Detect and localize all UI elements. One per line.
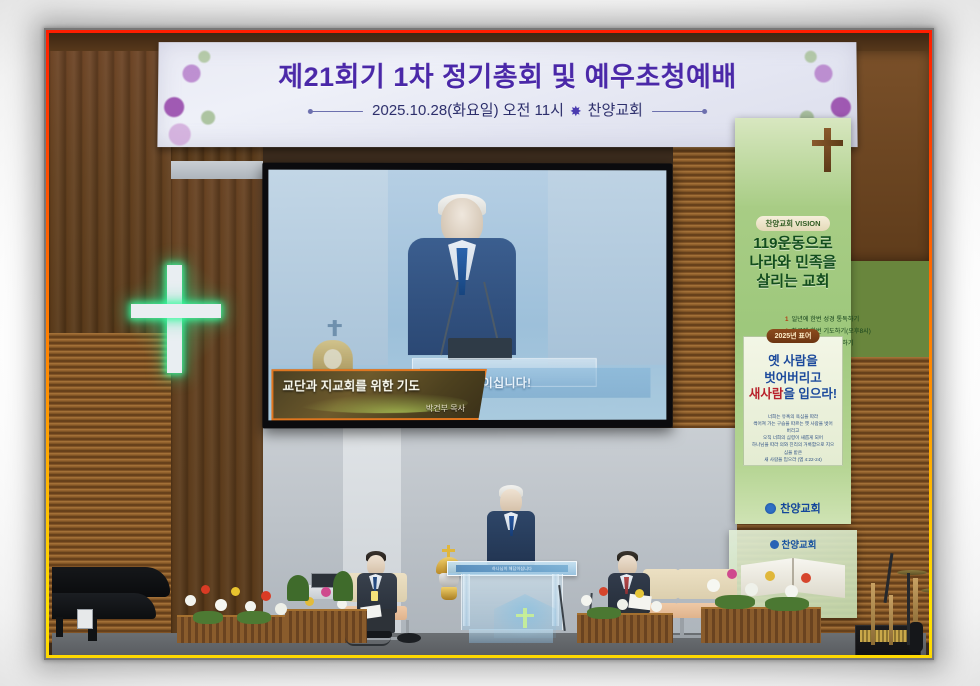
motto-box: 2025년 표어 옛 사람을 벗어버리고 새사람을 입으라! 너희는 유혹의 욕… [743, 336, 843, 466]
flower [745, 583, 758, 596]
vision-banner: 찬양교회 VISION 119운동으로 나라와 민족을 살리는 교회 1일년에 … [735, 118, 851, 524]
flower [727, 569, 737, 579]
banner-church: 찬양교회 [588, 102, 643, 119]
verse-line: 하나님을 따라 의와 진리의 거룩함으로 지으심을 받은 [751, 441, 835, 455]
flower [185, 595, 196, 606]
vision-item-number: 1 [785, 316, 788, 323]
vision-item: 1일년에 한번 성경 통독하기 [785, 314, 843, 323]
motto-text: 옛 사람을 벗어버리고 새사람을 입으라! [744, 353, 842, 403]
flower [261, 591, 271, 601]
vision-item-text: 일년에 한번 성경 통독하기 [791, 316, 859, 323]
flower-arrangement-right [697, 553, 821, 611]
vision-banner-header [735, 118, 851, 206]
flower [231, 587, 240, 596]
led-screen-bezel: 이 해답이십니다! 교단과 지교회를 위한 기도 박건부 목사 [262, 163, 672, 429]
church-sanctuary-photo: 제21회기 1차 정기총회 및 예우초청예배 2025.10.28(화요일) 오… [49, 33, 929, 655]
flower [707, 579, 720, 592]
led-screen-content: 이 해답이십니다! 교단과 지교회를 위한 기도 박건부 목사 [268, 170, 666, 421]
vision-headline-line3: 살리는 교회 [735, 272, 851, 291]
pulpit-sign: 하나님이 해답이십니다 [456, 565, 568, 572]
verse-line: 썩어져 가는 구습을 따르는 옛 사람을 벗어 버리고 [751, 420, 835, 434]
foliage [333, 571, 353, 601]
vision-headline: 119운동으로 나라와 민족을 살리는 교회 [735, 234, 851, 292]
motto-line2: 벗어버리고 [744, 370, 842, 387]
guitar-body [909, 622, 923, 652]
speaker-at-pulpit [481, 485, 541, 565]
name-badge [371, 591, 378, 601]
vision-footer: 찬양교회 [735, 500, 851, 516]
verse-line: 오직 너희의 심령이 새롭게 되어 [751, 434, 835, 441]
cross-vertical [167, 265, 182, 373]
vision-cross-icon [824, 128, 831, 172]
pulpit-body [461, 574, 563, 630]
screenshot-root: 제21회기 1차 정기총회 및 예우초청예배 2025.10.28(화요일) 오… [0, 0, 980, 686]
foliage [765, 597, 809, 611]
foliage [715, 595, 755, 609]
screen-small-cross-icon [332, 320, 336, 336]
flower [765, 571, 775, 581]
wooden-pole [871, 583, 875, 645]
verse-line: 너희는 유혹의 욕심을 따라 [751, 413, 835, 420]
motto-line3-rest: 을 입으라! [783, 387, 837, 401]
grand-piano [52, 567, 170, 641]
motto-verse: 너희는 유혹의 욕심을 따라 썩어져 가는 구습을 따르는 옛 사람을 벗어 버… [751, 413, 835, 463]
foliage [287, 575, 309, 601]
guitar-neck [913, 578, 918, 626]
vision-headline-line1: 119운동으로 [735, 234, 851, 253]
wall-trim [171, 161, 263, 179]
flower [215, 599, 227, 611]
cross-horizontal [131, 304, 221, 318]
flower [801, 573, 811, 583]
motto-accent: 새사람 [749, 387, 784, 401]
flower [635, 589, 644, 598]
bible-pane-title: 찬양교회 [729, 537, 857, 551]
banner-rule-left [311, 111, 363, 112]
verse-line: 새 사람을 입으라 (엡 4:22-24) [751, 456, 835, 463]
piano-leg [56, 617, 63, 637]
screen-wall-right [548, 170, 667, 365]
vision-tag-wrap: 찬양교회 VISION [735, 213, 851, 231]
caption-speaker-name: 박건부 목사 [426, 403, 465, 414]
screen-wall-left [268, 170, 388, 366]
wall-acoustic-pad [849, 261, 929, 357]
caption-title: 교단과 지교회를 위한 기도 [282, 375, 419, 394]
planter-right [701, 607, 821, 643]
glass-pulpit: 하나님이 해답이십니다 [447, 561, 575, 643]
vision-footer-label: 찬양교회 [780, 503, 820, 515]
wooden-pole [889, 595, 893, 645]
flower-arrangement-left-inner [281, 569, 369, 615]
neon-cross-icon [123, 265, 229, 373]
vision-tag: 찬양교회 VISION [756, 216, 829, 231]
cymbal-left [897, 570, 927, 575]
cymbal-stand [907, 573, 910, 645]
flower-arrangement-right-inner [573, 573, 669, 619]
bible-pane-church: 찬양교회 [782, 540, 817, 551]
motto-line3: 새사람을 입으라! [744, 386, 842, 403]
banner-subtitle: 2025.10.28(화요일) 오전 11시✸찬양교회 [158, 99, 858, 120]
flower-arrangement-left [175, 573, 295, 623]
floor-cable [345, 637, 391, 646]
flower [321, 587, 331, 597]
flower [581, 595, 592, 606]
flower [201, 585, 210, 594]
pulpit-sign-text: 하나님이 해답이십니다 [456, 565, 568, 572]
wall-outlet [77, 609, 93, 629]
foliage [587, 607, 621, 619]
foliage [237, 611, 271, 624]
banner-date: 2025.10.28(화요일) 오전 11시 [372, 102, 564, 119]
church-logo-icon [765, 503, 776, 514]
flower-icon: ✸ [570, 103, 582, 120]
banner-title: 제21회기 1차 정기총회 및 예우초청예배 [158, 55, 857, 94]
vision-headline-line2: 나라와 민족을 [735, 253, 851, 272]
piano-body [52, 593, 156, 619]
motto-line1: 옛 사람을 [744, 353, 842, 370]
foliage [193, 611, 223, 624]
lower-third-caption: 교단과 지교회를 위한 기도 박건부 목사 [271, 369, 487, 421]
banner-rule-right [652, 111, 704, 112]
church-logo-icon [770, 540, 779, 549]
photo-gradient-frame: 제21회기 1차 정기총회 및 예우초청예배 2025.10.28(화요일) 오… [46, 30, 932, 658]
flower [599, 587, 608, 596]
floor-monitor [397, 633, 421, 643]
flower [651, 601, 662, 612]
pulpit-base [469, 629, 553, 643]
motto-year-tag: 2025년 표어 [767, 329, 820, 343]
